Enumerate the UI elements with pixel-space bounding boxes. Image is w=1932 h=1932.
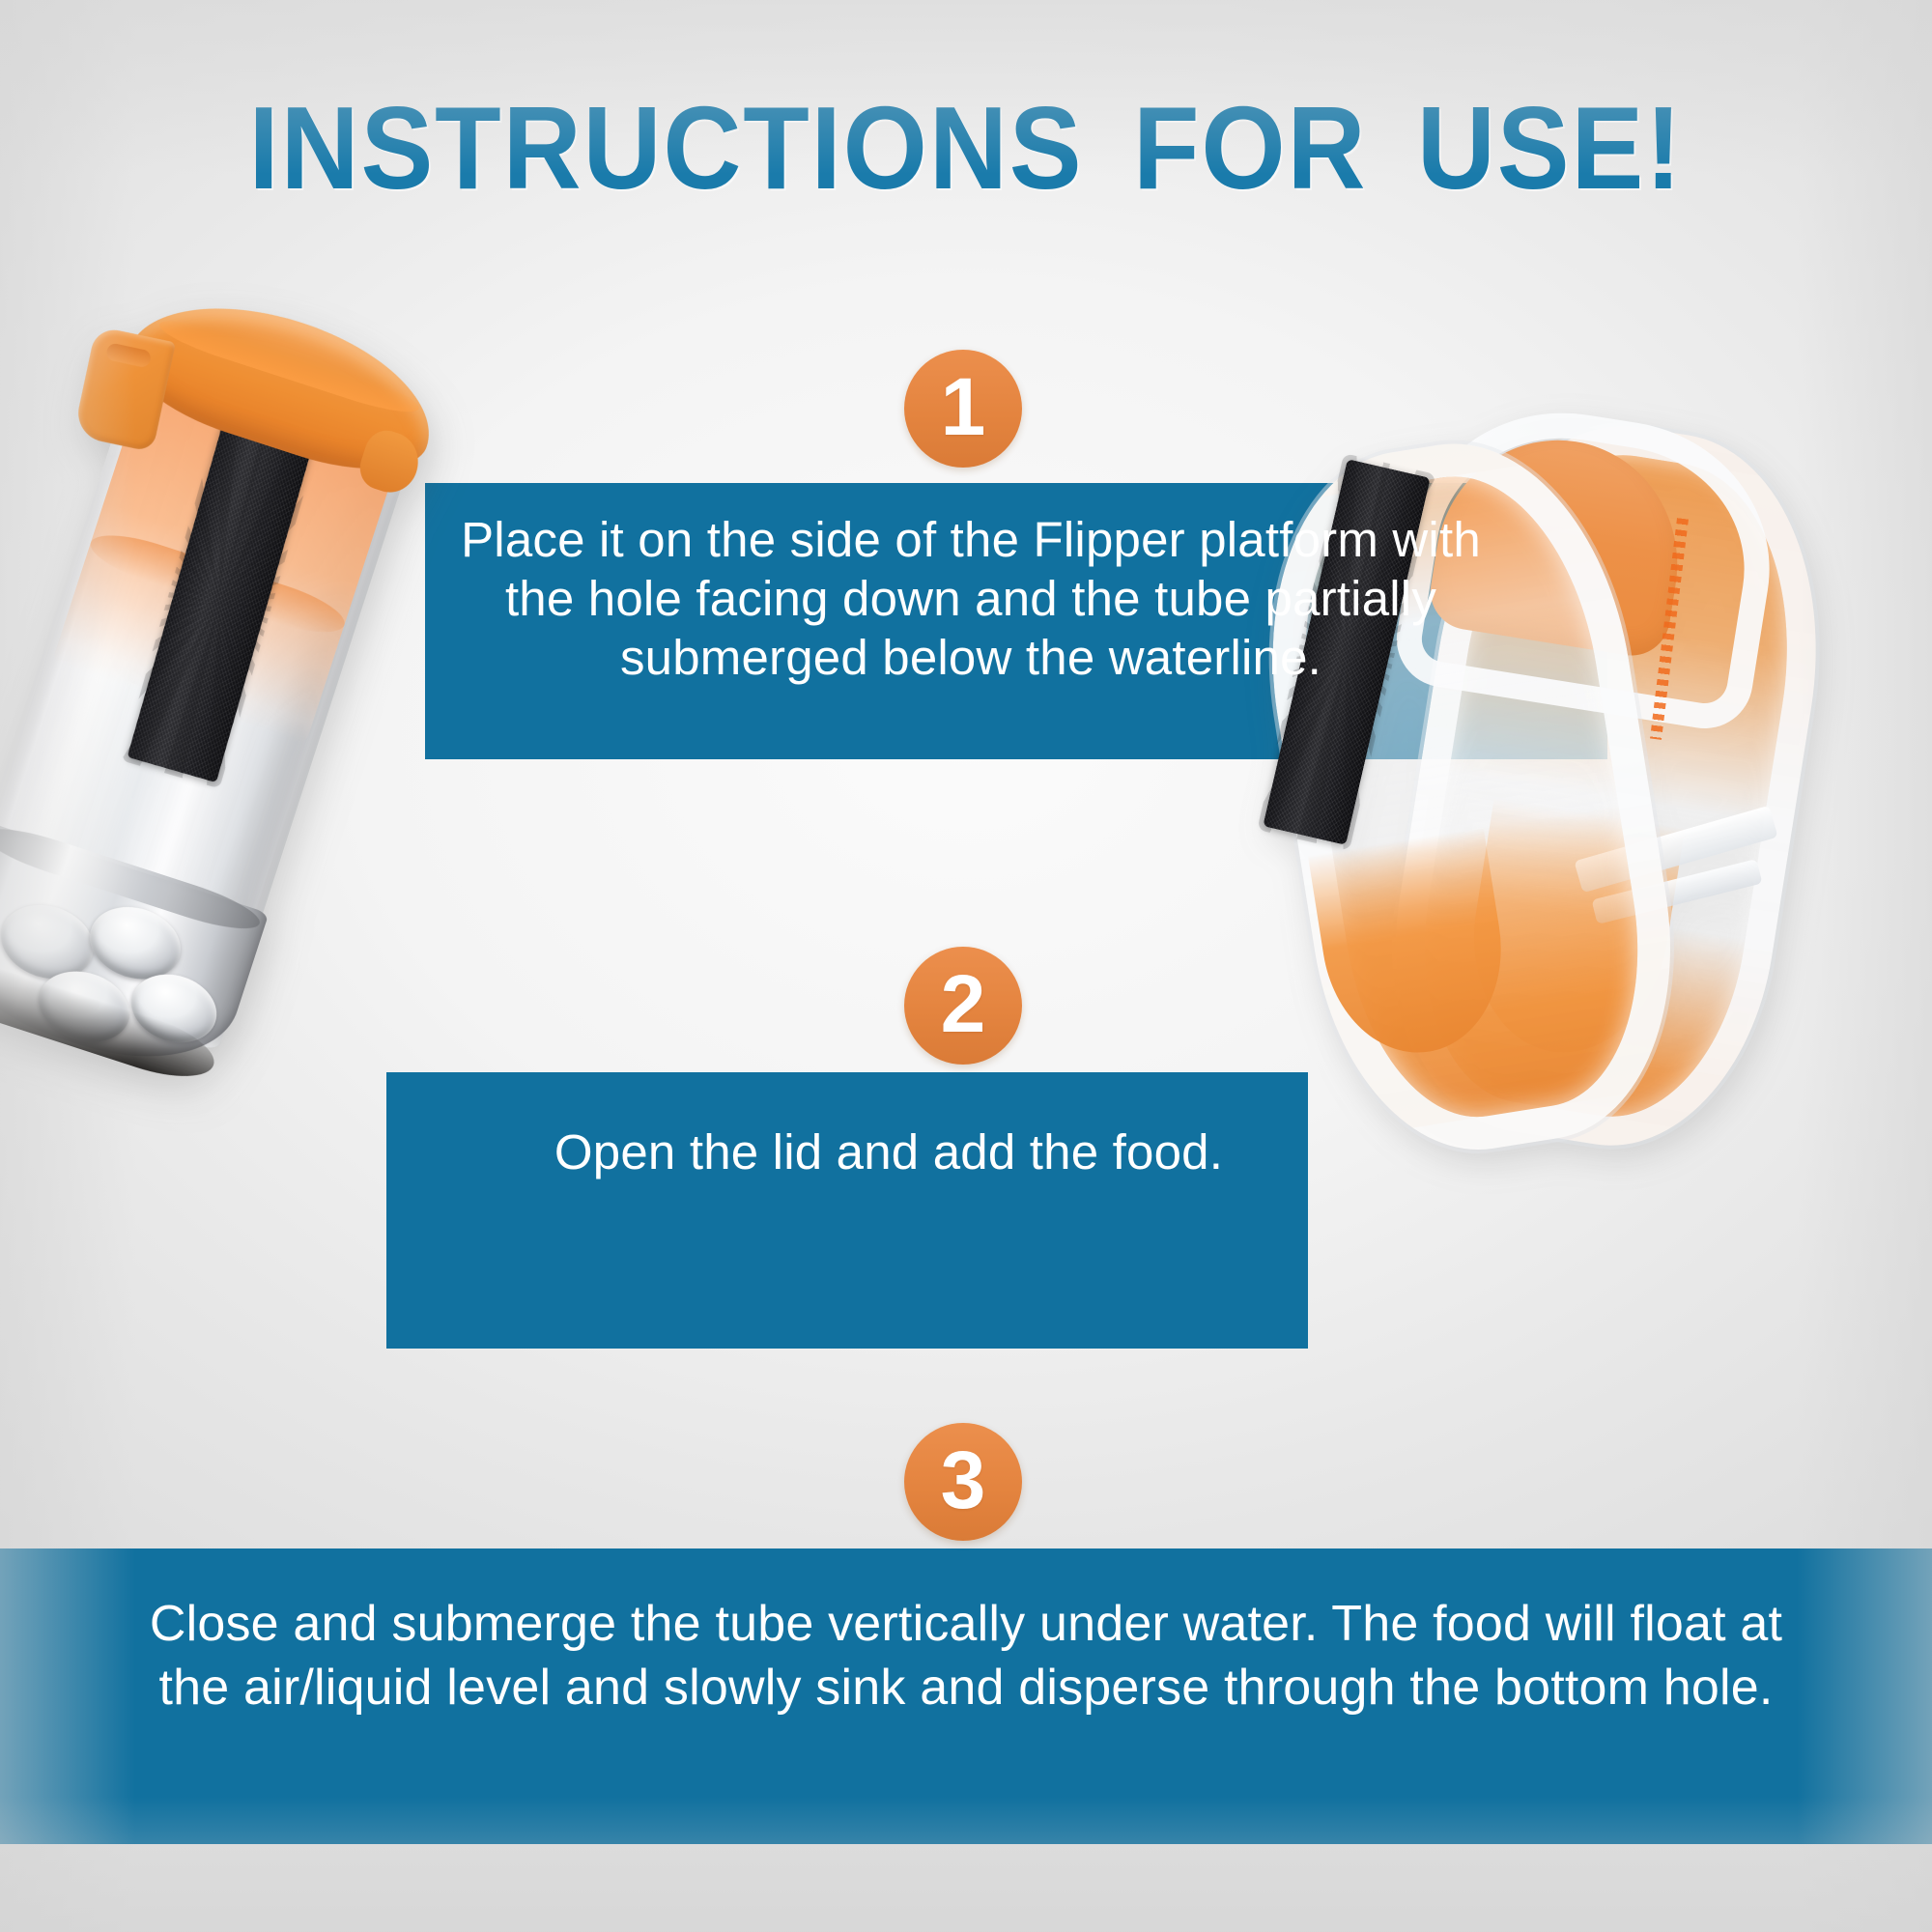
step-2-badge: 2 (904, 947, 1022, 1065)
step-3-badge: 3 (904, 1423, 1022, 1541)
step-1-badge: 1 (904, 350, 1022, 468)
instructions-infographic: INSTRUCTIONSFORUSE! Place it on the (0, 0, 1932, 1932)
step-2-band (386, 1072, 1308, 1349)
step-1-text: Place it on the side of the Flipper plat… (454, 510, 1488, 687)
title-word-for: FOR (1133, 82, 1367, 213)
step-3-number: 3 (941, 1439, 986, 1520)
page-title: INSTRUCTIONSFORUSE! (77, 89, 1855, 207)
step-2-number: 2 (941, 963, 986, 1044)
step-2-text: Open the lid and add the food. (454, 1122, 1323, 1182)
title-word-instructions: INSTRUCTIONS (249, 82, 1084, 213)
step-3-text: Close and submerge the tube vertically u… (116, 1592, 1816, 1719)
step-1-number: 1 (941, 366, 986, 447)
title-word-use: USE! (1417, 82, 1684, 213)
